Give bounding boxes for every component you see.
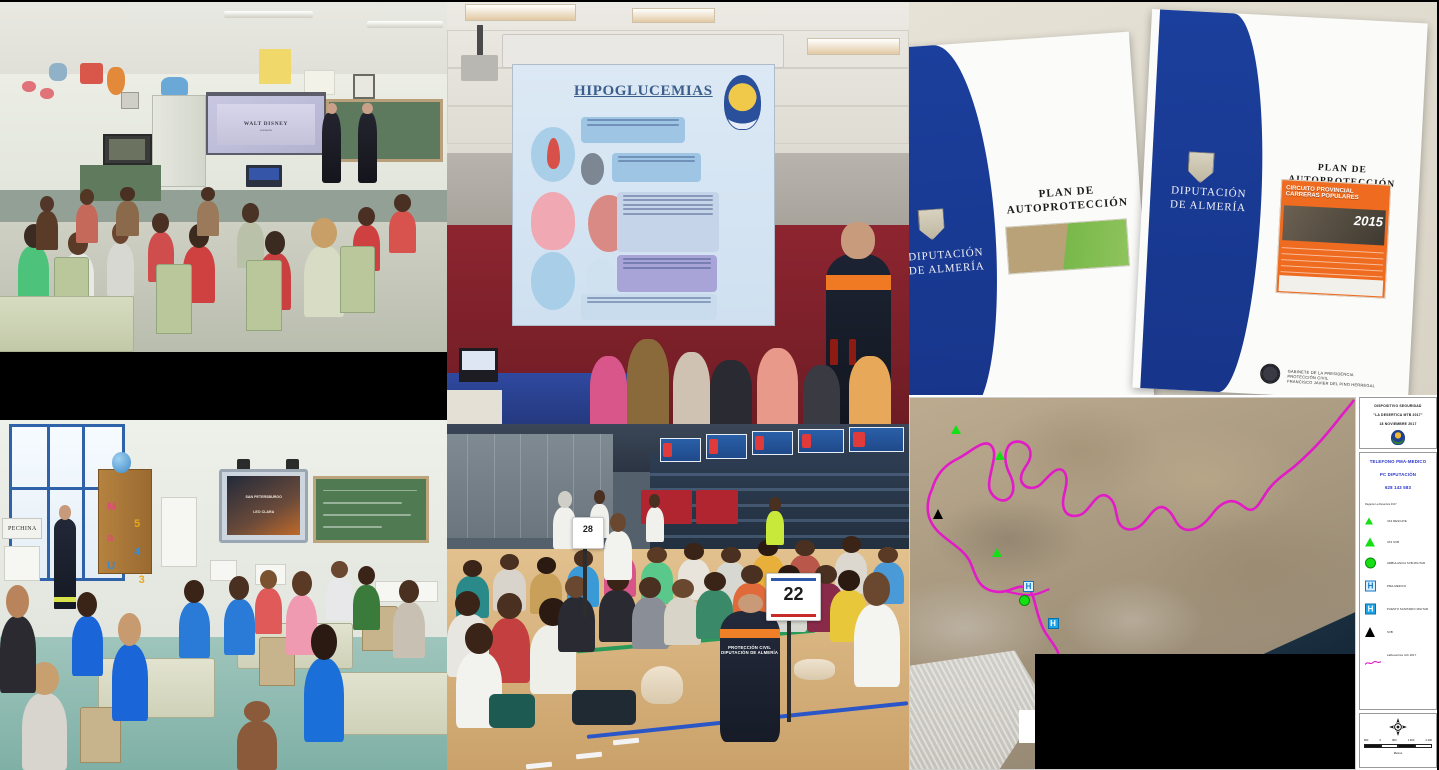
green-triangle-icon [1365,537,1375,546]
legend-scale-box: 800 0 800 1.600 2.400 Metros [1359,713,1437,768]
student [22,693,67,770]
slide-textbox [612,153,701,182]
student [107,243,134,296]
audience-member [849,356,891,424]
photo-collage: WALT DISNEY presenta [0,0,1439,770]
ceiling-light [367,21,443,28]
cupboard-letter: 3 [139,574,145,586]
doc-footer-credits: GABINETE DE LA PRESIDENCIA PROTECCIÓN CI… [1287,368,1376,389]
classroom-table [331,672,447,735]
laptop [459,348,498,382]
wooden-cupboard [98,469,152,574]
panel-security-map[interactable]: H H DISPOSITIVO SEGURIDAD "LA DESERTICA … [909,395,1439,770]
volunteer-hi-vis [766,511,784,546]
audience-member [710,360,752,424]
fire-extinguisher [830,339,837,364]
stand-banner [706,434,748,458]
legend-label: PMA-MEDICO [1387,584,1406,588]
student [304,658,344,742]
green-circle-icon [1365,557,1376,568]
slide-subtitle: presenta [208,128,325,132]
station-number: 22 [767,584,820,605]
television [103,134,152,166]
legend-item-route[interactable]: LaDesertica mtb 2017 [1365,647,1433,662]
projection-screen: WALT DISNEY presenta [206,92,327,155]
teacher-seated [304,246,344,316]
legend-header-box: DISPOSITIVO SEGURIDAD "LA DESERTICA MTB … [1359,397,1437,449]
ceiling-light [465,4,576,21]
legend-item-ambulancia-svb-militar[interactable]: AMBULANCIA SVB MILITAR [1365,555,1433,570]
gap-top-edge [0,0,1439,2]
scale-tick: 800 [1364,739,1368,742]
panel-plan-autoproteccion-documents[interactable]: DIPUTACIÓN DE ALMERÍA PLAN DE AUTOPROTEC… [909,0,1439,395]
audience-member [757,348,799,424]
gap-left-column [0,352,447,420]
marker-svb-west[interactable] [933,509,943,519]
legend-item-puesto-sanitario-militar[interactable]: H PUESTO SANITARIO MILITAR [1365,601,1433,616]
student [393,602,424,658]
legend-title: DISPOSITIVO SEGURIDAD [1360,404,1436,409]
backpack [489,694,535,729]
doc-organisation: DIPUTACIÓN DE ALMERÍA [1158,184,1259,217]
student [326,578,353,620]
scale-bar-blocks [1364,744,1432,748]
cupboard-letter: 5 [134,518,140,530]
cupboard-letter: a [107,532,113,544]
legend-item-4x4-rescate[interactable]: 4X4 RESCATE [1365,513,1433,528]
officer-left [322,113,342,183]
student [18,246,49,302]
legend-label: 4X4 SVB [1387,540,1399,544]
chair [156,264,192,334]
sign-pole [787,604,791,722]
panel-talk-hipoglucemias[interactable]: HIPOGLUCEMIAS [447,0,909,424]
student [36,211,58,250]
document-plan-via-verde[interactable]: DIPUTACIÓN DE ALMERÍA PLAN DE AUTOPROTEC… [909,31,1155,395]
laptop [246,165,282,186]
poster-headline: CIRCUITO PROVINCIAL CARRERAS POPULARES [1286,185,1386,204]
map-blackout-overlay [1035,654,1356,769]
proteccion-civil-emblem-icon [1391,430,1405,445]
stand-banner [660,438,702,462]
legend-label: 4X4 RESCATE [1387,519,1407,523]
student [179,602,210,658]
instructor-proteccion-civil: PROTECCIÓN CIVIL DIPUTACIÓN DE ALMERÍA [720,611,780,742]
adult-seated [0,616,36,693]
student [389,211,416,253]
uniform-patch: PROTECCIÓN CIVIL DIPUTACIÓN DE ALMERÍA [721,645,779,656]
wall-decoration-maraca [22,81,35,92]
smartboard: SAN PETERSBURGO LEO CLARA [219,469,308,543]
document-plan-carreras-populares[interactable]: DIPUTACIÓN DE ALMERÍA PLAN DE AUTOPROTEC… [1132,9,1427,395]
side-table [447,390,502,424]
proteccion-civil-seal-icon [1260,363,1281,384]
ceiling-light [224,11,313,18]
volunteer [604,531,632,579]
fire-extinguisher [849,339,856,364]
slide-textbox [581,117,686,143]
stand-banner [798,429,844,453]
cpr-manikin [641,666,683,704]
legend-event-date: 18 NOVIEMBRE 2017 [1360,422,1436,427]
cupboard-letter: M [107,501,116,513]
station-sign-22[interactable]: 22 [766,573,821,621]
legend-label: PUESTO SANITARIO MILITAR [1387,607,1428,611]
map-legend-panel[interactable]: DISPOSITIVO SEGURIDAD "LA DESERTICA MTB … [1359,397,1437,768]
panel-classroom-walt-disney[interactable]: WALT DISNEY presenta [0,0,447,352]
student [237,721,277,770]
audience-member [803,365,840,424]
smartboard-line-2: LEO CLARA [222,510,305,514]
wall-framed-picture [121,92,139,110]
legend-event-name: "LA DESERTICA MTB 2017" [1360,413,1436,418]
audience-member [673,352,710,424]
doc-title: PLAN DE AUTOPROTECCIÓN [997,180,1136,219]
wall-band [0,190,447,222]
station-sign-28[interactable]: 28 [572,517,604,548]
legend-label: AMBULANCIA SVB MILITAR [1387,561,1425,565]
slide-textbox [617,192,719,252]
wall-framed-picture [353,74,375,99]
h-solid-square-icon: H [1365,603,1376,614]
slide-textbox [581,294,717,320]
chair [340,246,376,313]
wall-poster-cards [161,497,197,567]
student [116,201,138,236]
scale-ticks: 800 0 800 1.600 2.400 [1364,739,1432,742]
backpack [572,690,637,725]
legend-item-pma-medico[interactable]: H PMA-MEDICO [1365,578,1433,593]
chalkboard [326,99,442,162]
legend-label: SVB [1387,630,1393,634]
marker-4x4-rescate-north[interactable] [951,425,961,434]
student [255,588,282,634]
slide-icon-heart [531,192,575,249]
black-triangle-icon [1365,627,1375,637]
h-light-square-icon: H [1365,580,1376,591]
standing-person [646,507,664,542]
audience-member [627,339,669,424]
north-arrow-icon [1389,718,1407,736]
ceiling-light [632,8,715,23]
doc-organisation: DIPUTACIÓN DE ALMERÍA [909,245,993,279]
stand-banner [752,431,794,455]
participant [599,590,636,642]
participant [558,597,595,652]
legend-item-svb[interactable]: SVB [1365,624,1433,639]
doc-poster-carreras-populares: CIRCUITO PROVINCIAL CARRERAS POPULARES 2… [1275,179,1391,298]
projector [461,55,498,80]
student [76,204,98,243]
green-triangle-small-icon [1365,517,1373,524]
contact-phone-number[interactable]: 628 143 583 [1360,483,1436,492]
volunteer [854,604,900,687]
map-canvas[interactable]: H H [909,397,1356,770]
wall-decoration-maraca [40,88,53,99]
scale-unit: Metros [1364,751,1432,755]
cupboard-letter: U [107,560,115,572]
contact-label-pc: PC DIPUTACIÓN [1360,470,1436,479]
scale-tick: 800 [1392,739,1396,742]
slide-icon-drop-shape [547,138,560,169]
audience-member [590,356,627,424]
globe [112,452,132,473]
desk [0,296,134,352]
student [224,599,255,655]
cpr-manikin [794,659,836,680]
slide-icon-flask [531,252,575,309]
cupboard-letter: 4 [134,546,140,558]
marker-pma-medico[interactable]: H [1023,581,1034,592]
officer-proteccion-civil [54,518,76,609]
projection-screen: HIPOGLUCEMIAS [512,64,775,327]
poster-race-table [1281,244,1384,279]
legend-item-4x4-svb[interactable]: 4X4 SVB [1365,534,1433,549]
slide-textbox [617,255,716,292]
wall-decoration-drum [80,63,102,84]
marker-4x4-svb-north[interactable] [995,451,1005,460]
wall-sign-pechina: PECHINA [2,518,42,539]
wall-decoration-guitar [107,67,125,95]
wall-poster-alphabet [259,49,290,84]
student [197,201,219,236]
wall-poster [4,546,40,581]
contact-label-pma: TELEFONO PMA-MEDICO [1360,457,1436,466]
officer-right [358,113,378,183]
legend-label: LaDesertica mtb 2017 [1387,653,1416,657]
magenta-route-line-icon [1365,652,1381,657]
scale-tick: 2.400 [1425,739,1432,742]
scale-tick: 1.600 [1408,739,1415,742]
doc-cover-photo-via-verde [1005,217,1130,274]
red-banner [696,490,738,525]
marker-puesto-sanitario-militar[interactable]: H [1048,618,1059,629]
panel-sports-hall-cpr[interactable]: PROTECCIÓN CIVIL DIPUTACIÓN DE ALMERÍA 2… [447,424,909,770]
proteccion-civil-badge-icon [724,75,761,130]
student [353,585,380,631]
chalkboard [313,476,429,543]
poster-year: 2015 [1354,213,1384,229]
stand-banner-deportes [849,427,904,451]
marker-4x4-svb-mid[interactable] [992,548,1002,557]
slide-icon-pancreas [581,153,605,184]
station-number: 28 [573,524,603,534]
legend-note: Ragante La Desertica 2017 [1365,503,1397,506]
smartboard-line-1: SAN PETERSBURGO [222,495,305,499]
slide-icon-brain [586,258,615,297]
student [112,644,148,721]
student [72,616,103,676]
scale-tick: 0 [1380,739,1381,742]
chair [246,260,282,330]
legend-body-box: TELEFONO PMA-MEDICO PC DIPUTACIÓN 628 14… [1359,452,1437,710]
panel-classroom-pechina[interactable]: PECHINA M 5 a 4 U 3 SAN PETERSBURGO LEO … [0,420,447,770]
wall-decoration-tambourine [49,63,67,81]
slide-title: WALT DISNEY [208,121,325,127]
